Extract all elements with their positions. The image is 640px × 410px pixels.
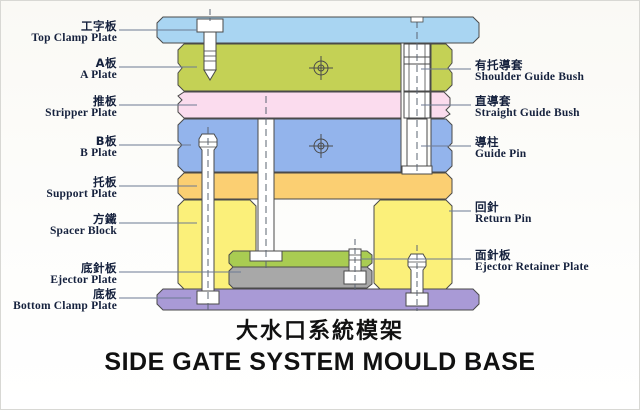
mould-base-diagram-page: 工字板 Top Clamp Plate A板 A Plate 推板 Stripp… [0, 0, 640, 410]
label-ejector-retainer-plate-cn: 面針板 [475, 249, 640, 261]
label-ejector-plate-cn: 底針板 [1, 262, 117, 274]
label-return-pin: 回針 Return Pin [475, 201, 640, 226]
plate-support [178, 173, 452, 199]
label-a-plate-cn: A板 [1, 57, 117, 69]
label-b-plate-cn: B板 [1, 135, 117, 147]
label-stripper-plate: 推板 Stripper Plate [1, 95, 117, 120]
label-top-clamp-plate: 工字板 Top Clamp Plate [1, 20, 117, 45]
label-straight-guide-bush: 直導套 Straight Guide Bush [475, 95, 640, 120]
label-support-plate-en: Support Plate [1, 188, 117, 200]
diagram-title: 大水口系統模架 SIDE GATE SYSTEM MOULD BASE [1, 313, 639, 377]
label-guide-pin-en: Guide Pin [475, 148, 640, 160]
label-support-plate-cn: 托板 [1, 176, 117, 188]
label-shoulder-guide-bush: 有托導套 Shoulder Guide Bush [475, 59, 640, 84]
label-straight-guide-bush-en: Straight Guide Bush [475, 107, 640, 119]
label-ejector-retainer-plate: 面針板 Ejector Retainer Plate [475, 249, 640, 274]
label-spacer-block-cn: 方鐵 [1, 213, 117, 225]
diagram-title-cn: 大水口系統模架 [1, 313, 639, 345]
label-straight-guide-bush-cn: 直導套 [475, 95, 640, 107]
label-a-plate: A板 A Plate [1, 57, 117, 82]
label-top-clamp-plate-cn: 工字板 [1, 20, 117, 32]
plate-stripper [178, 92, 401, 118]
label-stripper-plate-cn: 推板 [1, 95, 117, 107]
label-return-pin-cn: 回針 [475, 201, 640, 213]
label-shoulder-guide-bush-cn: 有托導套 [475, 59, 640, 71]
label-return-pin-en: Return Pin [475, 213, 640, 225]
label-spacer-block-en: Spacer Block [1, 225, 117, 237]
label-top-clamp-plate-en: Top Clamp Plate [1, 32, 117, 44]
label-guide-pin: 導柱 Guide Pin [475, 136, 640, 161]
label-ejector-plate: 底針板 Ejector Plate [1, 262, 117, 287]
label-spacer-block: 方鐵 Spacer Block [1, 213, 117, 238]
label-bottom-clamp-plate: 底板 Bottom Clamp Plate [1, 288, 117, 313]
label-shoulder-guide-bush-en: Shoulder Guide Bush [475, 71, 640, 83]
label-bottom-clamp-plate-cn: 底板 [1, 288, 117, 300]
label-a-plate-en: A Plate [1, 69, 117, 81]
label-bottom-clamp-plate-en: Bottom Clamp Plate [1, 300, 117, 312]
diagram-title-en: SIDE GATE SYSTEM MOULD BASE [1, 348, 639, 377]
plate-a-right [431, 44, 452, 91]
label-b-plate: B板 B Plate [1, 135, 117, 160]
label-support-plate: 托板 Support Plate [1, 176, 117, 201]
label-ejector-plate-en: Ejector Plate [1, 274, 117, 286]
label-stripper-plate-en: Stripper Plate [1, 107, 117, 119]
label-guide-pin-cn: 導柱 [475, 136, 640, 148]
label-ejector-retainer-plate-en: Ejector Retainer Plate [475, 261, 640, 273]
label-b-plate-en: B Plate [1, 147, 117, 159]
